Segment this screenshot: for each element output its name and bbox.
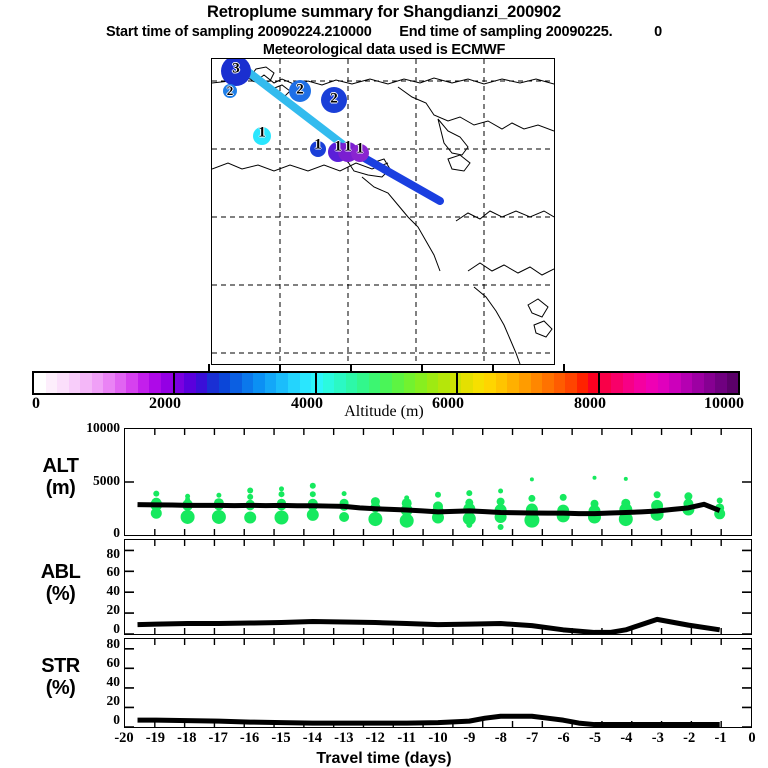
colorbar-swatch [103,373,115,393]
colorbar-swatch [484,373,496,393]
colorbar-swatch [692,373,704,393]
x-axis-tick-label: -13 [334,730,353,747]
map-graphics [212,59,554,364]
scatter-point [310,483,316,489]
scatter-point [528,495,535,502]
x-axis-tick-label: -20 [114,730,133,747]
x-axis-tick-label: -14 [303,730,322,747]
colorbar-swatch [519,373,531,393]
x-axis-tick-label: -11 [397,730,416,747]
scatter-point [181,510,195,524]
scatter-point [498,524,504,530]
scatter-point [654,491,661,498]
colorbar-swatch [34,373,46,393]
colorbar-swatch [577,373,589,393]
start-time-label: Start time of sampling 20090224.210000 [106,24,372,40]
x-axis-tick-label: -4 [620,730,632,747]
abl-ytick-80: 80 [107,546,121,562]
colorbar-swatch [92,373,104,393]
colorbar-swatch [531,373,543,393]
colorbar-swatch [392,373,404,393]
map-marker-label: 1 [356,141,364,158]
x-axis-title: Travel time (days) [0,750,768,768]
x-axis-tick-label: -6 [558,730,570,747]
colorbar-swatch [461,373,473,393]
scatter-point [212,510,226,524]
colorbar-tick [492,364,494,371]
mean-altitude-line [138,504,720,513]
colorbar-swatch [196,373,208,393]
y-tick-marks [125,649,751,727]
colorbar-swatch [427,373,439,393]
colorbar-swatch [300,373,312,393]
colorbar-swatch [600,373,612,393]
map-marker-label: 2 [330,91,338,108]
map-marker-label: 2 [296,82,304,99]
map-marker-label: 1 [314,137,322,154]
x-axis-tick-label: -18 [177,730,196,747]
x-axis-tick-label: -15 [271,730,290,747]
colorbar-tick [279,364,281,371]
colorbar-swatch [161,373,173,393]
colorbar-swatch [115,373,127,393]
colorbar-swatch [357,373,369,393]
scatter-point [247,487,253,493]
page-title: Retroplume summary for Shangdianzi_20090… [0,3,768,22]
x-axis-tick-label: -8 [495,730,507,747]
plot-graphics [125,639,751,727]
scatter-point [498,489,503,494]
colorbar-swatch [80,373,92,393]
alt-ytick-labels: 10000 5000 0 [60,425,120,535]
colorbar-swatch [646,373,658,393]
x-axis-tick-label: -10 [428,730,447,747]
colorbar-swatch [669,373,681,393]
colorbar-swatch [727,373,739,393]
alt-ytick-10000: 10000 [86,420,120,436]
x-axis-tick-label: -1 [715,730,727,747]
colorbar-swatch [554,373,566,393]
x-axis-tick-label: -19 [146,730,165,747]
colorbar-swatch [207,373,219,393]
scatter-point [466,490,472,496]
colorbar-swatch [230,373,242,393]
colorbar-swatch [404,373,416,393]
map-marker-label: 3 [232,61,240,78]
colorbar-swatch [565,373,577,393]
colorbar-tick [563,364,565,371]
colorbar-swatch [415,373,427,393]
x-tick-marks [155,540,721,634]
sampling-times: Start time of sampling 20090224.210000 E… [0,23,768,41]
x-axis-tick-label: -9 [463,730,475,747]
x-axis-tick-label: -17 [209,730,228,747]
map-graticule [212,59,554,364]
abl-ytick-labels: 80 60 40 20 0 [60,536,120,632]
met-data-label: Meteorological data used is ECMWF [0,41,768,59]
x-axis-tick-label: -16 [240,730,259,747]
map-marker-label: 1 [258,125,266,142]
retroplume-summary-figure: Retroplume summary for Shangdianzi_20090… [0,0,768,768]
colorbar-swatch [611,373,623,393]
colorbar-swatch [634,373,646,393]
colorbar-swatch [149,373,161,393]
colorbar-swatch [658,373,670,393]
colorbar-swatch [623,373,635,393]
abl-ytick-60: 60 [107,564,121,580]
abl-ytick-20: 20 [107,602,121,618]
scatter-point [466,522,472,528]
x-axis-tick-label: -2 [683,730,695,747]
scatter-point [216,493,221,498]
scatter-point [279,486,284,491]
colorbar-swatch [496,373,508,393]
scatter-point [624,477,628,481]
scatter-point [310,491,316,497]
scatter-point [247,494,253,500]
str-ytick-80: 80 [107,636,121,652]
x-axis-tick-label: -7 [526,730,538,747]
x-axis-tick-labels: -20-19-18-17-16-15-14-13-12-11-10-9-8-7-… [124,730,752,750]
colorbar-swatch [265,373,277,393]
scatter-point [275,511,289,525]
str-ytick-60: 60 [107,655,121,671]
colorbar-swatch [438,373,450,393]
colorbar-swatch [369,373,381,393]
colorbar-swatch [126,373,138,393]
scatter-point [368,512,382,526]
scatter-point [151,508,162,519]
colorbar-swatch [346,373,358,393]
map-marker-label: 1 [334,139,342,156]
colorbar-ticks [32,364,740,371]
colorbar-tick [350,364,352,371]
scatter-point [279,491,285,497]
scatter-point [153,491,159,497]
map-marker-label: 2 [227,83,234,99]
colorbar-tick [208,364,210,371]
alt-panel [124,428,752,536]
colorbar-swatch [219,373,231,393]
colorbar-swatch [334,373,346,393]
scatter-point [560,494,567,501]
colorbar-swatch [473,373,485,393]
scatter-points [150,476,725,530]
colorbar-swatch [380,373,392,393]
scatter-point [593,476,597,480]
scatter-point [339,512,349,522]
scatter-point [307,509,319,521]
x-axis-tick-label: -3 [652,730,664,747]
scatter-point [400,514,414,528]
colorbar-title: Altitude (m) [0,403,768,421]
str-ytick-0: 0 [113,712,120,728]
str-ytick-20: 20 [107,693,121,709]
map-coastlines [212,67,554,364]
scatter-point [717,498,723,504]
str-panel [124,638,752,728]
altitude-colorbar: 0 2000 4000 6000 8000 10000 [32,371,740,395]
colorbar-swatch [69,373,81,393]
colorbar-swatch [507,373,519,393]
colorbar-swatch [288,373,300,393]
figure-header: Retroplume summary for Shangdianzi_20090… [0,0,768,59]
x-axis-tick-label: -12 [366,730,385,747]
alt-ytick-5000: 5000 [93,473,120,489]
end-time-label: End time of sampling 20090225. [399,24,612,40]
scatter-point [342,491,347,496]
colorbar-swatch [542,373,554,393]
str-ytick-labels: 80 60 40 20 0 [60,635,120,731]
colorbar-swatch [138,373,150,393]
x-axis-tick-label: 0 [748,730,755,747]
plot-graphics [125,540,751,634]
scatter-point [244,512,256,524]
abl-panel [124,539,752,635]
colorbar-swatch [57,373,69,393]
x-tick-marks [155,639,721,727]
map-marker-label: 1 [344,139,352,156]
scatter-point [435,492,441,498]
scatter-point [530,477,534,481]
colorbar-swatch [681,373,693,393]
colorbar-swatch [242,373,254,393]
abl-ytick-40: 40 [107,583,121,599]
x-axis-tick-label: -5 [589,730,601,747]
plot-graphics [125,429,751,535]
colorbar-swatch [253,373,265,393]
str-ytick-40: 40 [107,674,121,690]
colorbar-gradient [32,371,740,395]
colorbar-swatch [276,373,288,393]
colorbar-tick [421,364,423,371]
end-time-value: 0 [654,24,662,40]
colorbar-swatch [184,373,196,393]
colorbar-swatch [323,373,335,393]
series-line [138,716,720,724]
colorbar-swatch [46,373,58,393]
colorbar-swatch [715,373,727,393]
retroplume-map: 3 2 2 2 1 1 1 1 1 [211,58,555,365]
colorbar-swatch [704,373,716,393]
